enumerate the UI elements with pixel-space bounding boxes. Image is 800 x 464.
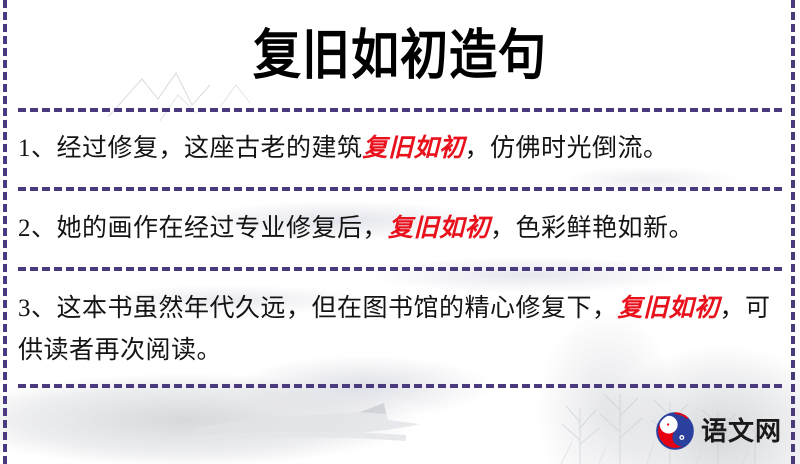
sentence-text-before: 这本书虽然年代久远，但在图书馆的精心修复下， (57, 295, 618, 322)
sentence-number: 1、 (18, 135, 57, 162)
sentence-number: 2、 (18, 215, 57, 242)
example-sentence: 2、她的画作在经过专业修复后，复旧如初，色彩鲜艳如新。 (18, 208, 780, 250)
site-logo-text: 语文网 (701, 418, 782, 444)
taiji-yinyang-fish-icon (656, 412, 694, 450)
sentence-text-before: 经过修复，这座古老的建筑 (57, 135, 363, 162)
idiom-highlight: 复旧如初 (388, 215, 490, 242)
sentence-text-before: 她的画作在经过专业修复后， (57, 215, 389, 242)
page-border-right (791, 0, 795, 464)
sentence-text-after: ，仿佛时光倒流。 (465, 135, 669, 162)
dashed-separator (18, 384, 782, 388)
sentence-number: 3、 (18, 295, 57, 322)
sentence-text-after: ，色彩鲜艳如新。 (490, 215, 694, 242)
idiom-highlight: 复旧如初 (618, 295, 720, 322)
page-border-left (3, 0, 7, 464)
ink-wash-boat (170, 390, 470, 450)
example-sentence: 3、这本书虽然年代久远，但在图书馆的精心修复下，复旧如初，可供读者再次阅读。 (18, 288, 780, 372)
dashed-separator (18, 187, 782, 191)
dashed-separator (18, 267, 782, 271)
idiom-highlight: 复旧如初 (363, 135, 465, 162)
site-logo[interactable]: 语文网 (656, 412, 782, 450)
page-title: 复旧如初造句 (0, 24, 800, 89)
idiom-example-card: 复旧如初造句 1、经过修复，这座古老的建筑复旧如初，仿佛时光倒流。 2、她的画作… (0, 0, 800, 464)
example-sentence: 1、经过修复，这座古老的建筑复旧如初，仿佛时光倒流。 (18, 128, 780, 170)
dashed-separator (18, 108, 782, 112)
